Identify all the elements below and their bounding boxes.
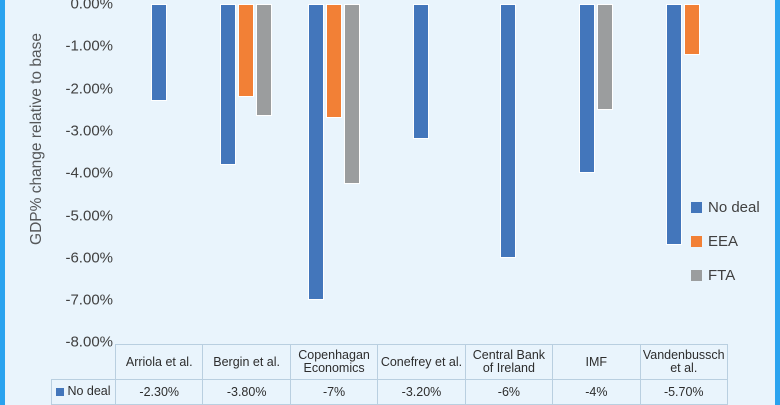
- plot-area: [115, 0, 727, 340]
- series-swatch-icon: [56, 388, 64, 396]
- bar-nodeal[interactable]: [500, 4, 516, 258]
- bar-group: [115, 0, 202, 340]
- bar-nodeal[interactable]: [579, 4, 595, 173]
- table-row-label: No deal: [67, 385, 110, 399]
- table-column-header: Central Bank of Ireland: [465, 345, 552, 380]
- table-column-header: IMF: [553, 345, 640, 380]
- table-column-header: Copenhagan Economics: [290, 345, 377, 380]
- y-axis-tick: -1.00%: [65, 38, 113, 55]
- bar-fta[interactable]: [256, 4, 272, 116]
- table-column-header: Arriola et al.: [116, 345, 203, 380]
- y-axis-tick: -6.00%: [65, 249, 113, 266]
- table-body: No deal-2.30%-3.80%-7%-3.20%-6%-4%-5.70%: [52, 380, 728, 405]
- legend-swatch-icon: [691, 270, 702, 281]
- legend-swatch-icon: [691, 236, 702, 247]
- bar-group: [377, 0, 464, 340]
- bar-group: [465, 0, 552, 340]
- bar-eea[interactable]: [238, 4, 254, 97]
- legend-item-no-deal[interactable]: No deal: [691, 190, 780, 224]
- bar-eea[interactable]: [326, 4, 342, 118]
- bar-group: [290, 0, 377, 340]
- legend-item-fta[interactable]: FTA: [691, 258, 780, 292]
- table-cell: -3.80%: [203, 380, 290, 405]
- table-cell: -5.70%: [640, 380, 727, 405]
- y-axis-tick: -5.00%: [65, 207, 113, 224]
- legend-swatch-icon: [691, 202, 702, 213]
- table-row-header: No deal: [52, 380, 116, 405]
- table-header-row: Arriola et al.Bergin et al.Copenhagan Ec…: [52, 345, 728, 380]
- y-axis-tick: -7.00%: [65, 292, 113, 309]
- legend-item-label: No deal: [708, 199, 760, 216]
- data-table: Arriola et al.Bergin et al.Copenhagan Ec…: [51, 344, 728, 405]
- bar-eea[interactable]: [684, 4, 700, 55]
- table-cell: -4%: [553, 380, 640, 405]
- y-axis-tick: -4.00%: [65, 165, 113, 182]
- bar-nodeal[interactable]: [666, 4, 682, 245]
- y-axis-title: GDP% change relative to base: [28, 14, 46, 264]
- bar-nodeal[interactable]: [308, 4, 324, 300]
- table-cell: -6%: [465, 380, 552, 405]
- table-column-header: Bergin et al.: [203, 345, 290, 380]
- table-corner-cell: [52, 345, 116, 380]
- bar-nodeal[interactable]: [151, 4, 167, 101]
- chart-legend: No dealEEAFTA: [691, 190, 780, 292]
- bar-nodeal[interactable]: [413, 4, 429, 139]
- y-axis-tick: 0.00%: [70, 0, 113, 13]
- table-cell: -2.30%: [116, 380, 203, 405]
- bar-group: [552, 0, 639, 340]
- legend-item-label: EEA: [708, 233, 738, 250]
- bar-group: [202, 0, 289, 340]
- table-cell: -7%: [290, 380, 377, 405]
- y-axis-tick: -3.00%: [65, 122, 113, 139]
- table-column-header: Conefrey et al.: [378, 345, 465, 380]
- y-axis-tick: -2.00%: [65, 80, 113, 97]
- bar-fta[interactable]: [597, 4, 613, 110]
- table-row: No deal-2.30%-3.80%-7%-3.20%-6%-4%-5.70%: [52, 380, 728, 405]
- legend-item-label: FTA: [708, 267, 735, 284]
- y-axis-tick-labels: 0.00%-1.00%-2.00%-3.00%-4.00%-5.00%-6.00…: [45, 0, 113, 352]
- bar-fta[interactable]: [344, 4, 360, 184]
- table-cell: -3.20%: [378, 380, 465, 405]
- bar-nodeal[interactable]: [220, 4, 236, 165]
- chart-container: GDP% change relative to base 0.00%-1.00%…: [0, 0, 780, 405]
- table-column-header: Vandenbussch et al.: [640, 345, 727, 380]
- legend-item-eea[interactable]: EEA: [691, 224, 780, 258]
